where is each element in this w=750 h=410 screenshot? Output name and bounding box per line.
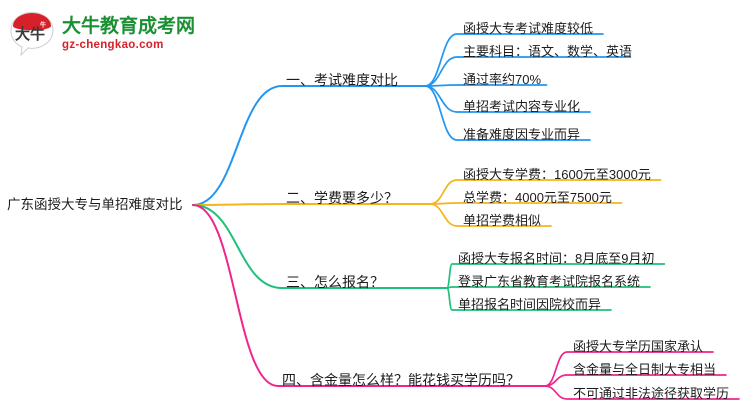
mindmap-leaf-node-1-4[interactable]: 单招考试内容专业化 [463,100,580,113]
svg-text:牛: 牛 [40,21,46,29]
mindmap-leaf-node-3-2[interactable]: 登录广东省教育考试院报名系统 [458,275,640,288]
mindmap-branch-node-4[interactable]: 四、含金量怎么样？能花钱买学历吗？ [282,373,520,387]
mindmap-branch-label: 三、怎么报名？ [286,275,384,289]
mindmap-leaf-label: 函授大专学费：1600元至3000元 [463,168,651,181]
mindmap-leaf-label: 通过率约70% [463,73,541,86]
logo-mark-icon: 大牛 牛 [8,10,56,58]
mindmap-leaf-node-1-1[interactable]: 函授大专考试难度较低 [463,22,593,35]
mindmap-leaf-node-2-3[interactable]: 单招学费相似 [463,214,541,227]
mindmap-leaf-label: 单招报名时间因院校而异 [458,298,601,311]
mindmap-leaf-node-3-1[interactable]: 函授大专报名时间：8月底至9月初 [458,252,654,265]
mindmap-leaf-label: 登录广东省教育考试院报名系统 [458,275,640,288]
mindmap-leaf-node-4-3[interactable]: 不可通过非法途径获取学历 [573,387,729,400]
mindmap-leaf-node-4-1[interactable]: 函授大专学历国家承认 [573,340,703,353]
mindmap-leaf-node-3-3[interactable]: 单招报名时间因院校而异 [458,298,601,311]
mindmap-branch-label: 一、考试难度对比 [286,73,398,87]
mindmap-branch-label: 二、学费要多少？ [286,191,398,205]
mindmap-leaf-node-1-2[interactable]: 主要科目：语文、数学、英语 [463,45,632,58]
mindmap-leaf-node-2-2[interactable]: 总学费：4000元至7500元 [463,191,612,204]
mindmap-leaf-label: 不可通过非法途径获取学历 [573,387,729,400]
mindmap-leaf-label: 函授大专报名时间：8月底至9月初 [458,252,654,265]
mindmap-leaf-node-1-3[interactable]: 通过率约70% [463,73,541,86]
logo-subtitle: gz-chengkao.com [62,40,195,52]
mindmap-leaf-node-4-2[interactable]: 含金量与全日制大专相当 [573,363,716,376]
mindmap-leaf-label: 主要科目：语文、数学、英语 [463,45,632,58]
mindmap-leaf-node-1-5[interactable]: 准备难度因专业而异 [463,128,580,141]
mindmap-leaf-node-2-1[interactable]: 函授大专学费：1600元至3000元 [463,168,651,181]
mindmap-leaf-label: 准备难度因专业而异 [463,128,580,141]
mindmap-branch-label: 四、含金量怎么样？能花钱买学历吗？ [282,373,520,387]
mindmap-branch-node-3[interactable]: 三、怎么报名？ [286,275,384,289]
connector-line [193,86,425,205]
mindmap-branch-node-1[interactable]: 一、考试难度对比 [286,73,398,87]
mindmap-leaf-label: 总学费：4000元至7500元 [463,191,612,204]
mindmap-canvas: 大牛 牛 大牛教育成考网 gz-chengkao.com 广东函授大专与单招难度… [0,0,750,410]
mindmap-leaf-label: 单招学费相似 [463,214,541,227]
mindmap-root-node[interactable]: 广东函授大专与单招难度对比 [7,198,183,212]
mindmap-branch-node-2[interactable]: 二、学费要多少？ [286,191,398,205]
mindmap-leaf-label: 函授大专考试难度较低 [463,22,593,35]
mindmap-leaf-label: 函授大专学历国家承认 [573,340,703,353]
site-logo: 大牛 牛 大牛教育成考网 gz-chengkao.com [8,6,198,62]
mindmap-leaf-label: 单招考试内容专业化 [463,100,580,113]
logo-text: 大牛教育成考网 gz-chengkao.com [62,17,195,52]
connector-line [193,205,545,386]
logo-title: 大牛教育成考网 [62,17,195,36]
mindmap-root-label: 广东函授大专与单招难度对比 [7,198,183,212]
mindmap-leaf-label: 含金量与全日制大专相当 [573,363,716,376]
